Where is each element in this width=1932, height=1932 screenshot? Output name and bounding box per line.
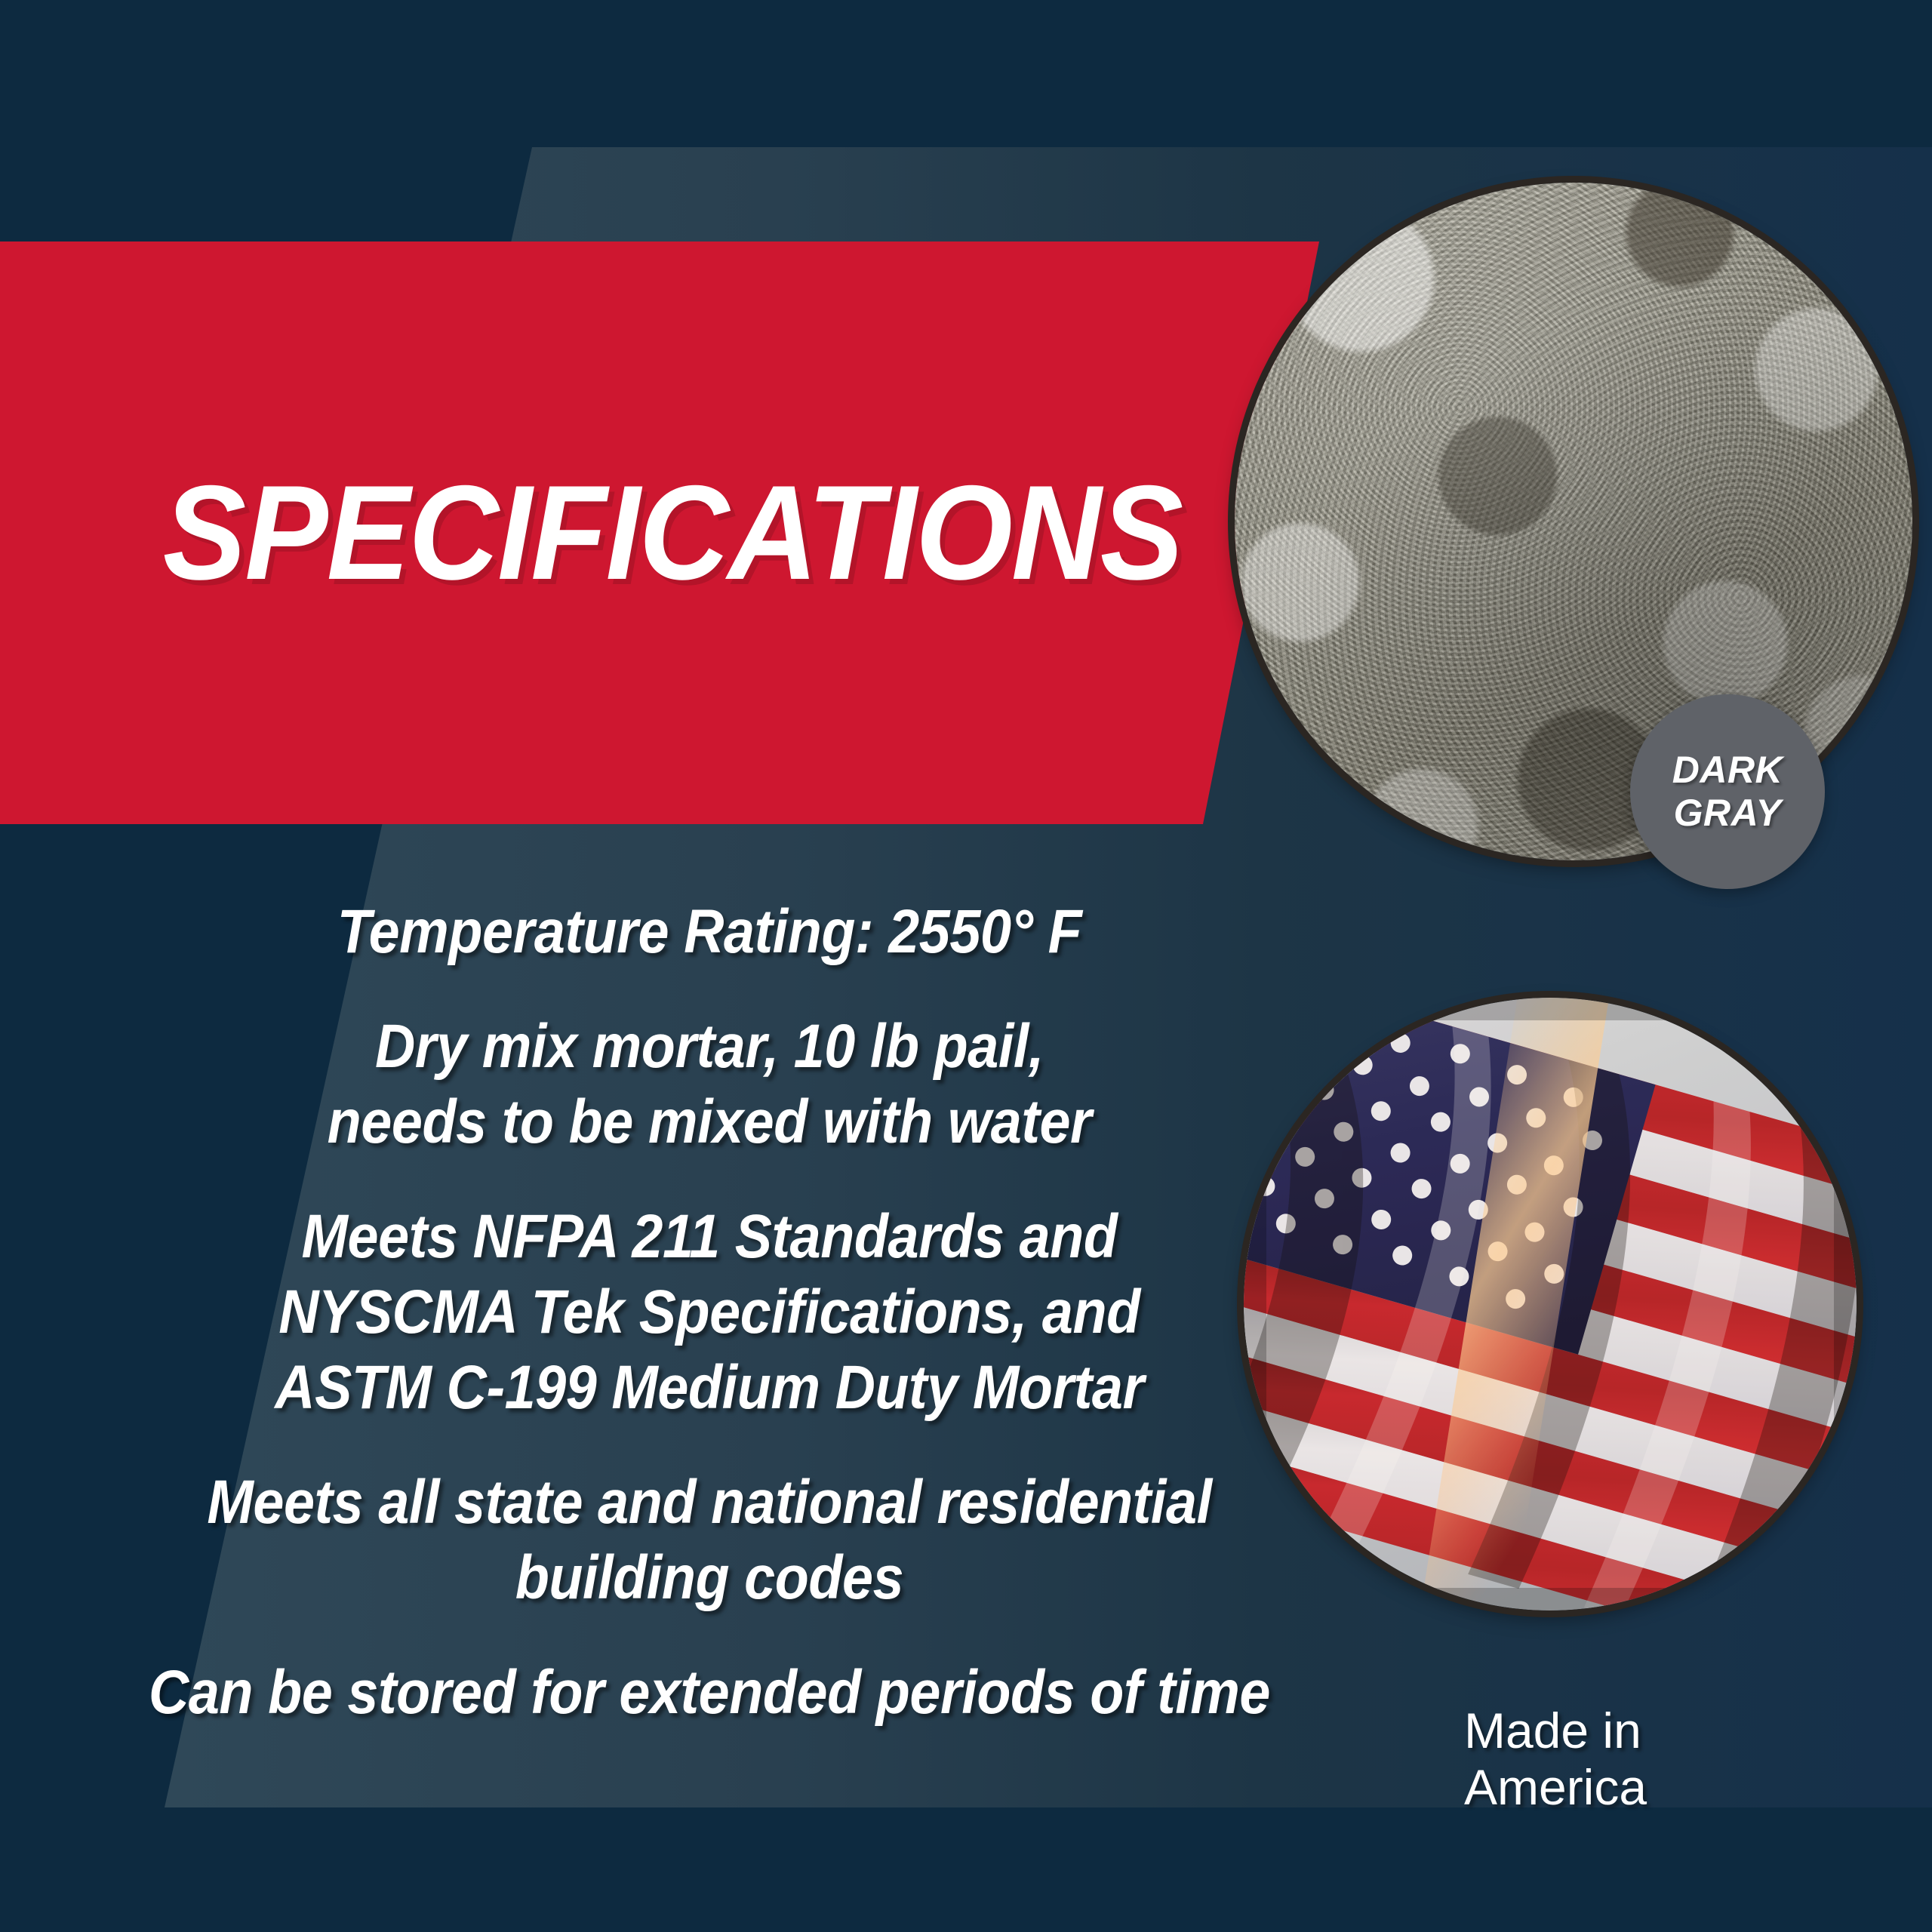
- spec-line: Dry mix mortar, 10 lb pail,: [112, 1009, 1307, 1084]
- made-in-america-caption: Made in America: [1464, 1703, 1857, 1816]
- spec-item-dry-mix-mortar: Dry mix mortar, 10 lb pail, needs to be …: [112, 1009, 1307, 1160]
- color-badge-line-1: DARK: [1672, 749, 1783, 792]
- color-badge-line-2: GRAY: [1674, 792, 1782, 835]
- spec-line: needs to be mixed with water: [112, 1084, 1307, 1160]
- spec-line: Meets all state and national residential: [112, 1465, 1307, 1540]
- spec-item-standards: Meets NFPA 211 Standards and NYSCMA Tek …: [112, 1199, 1307, 1426]
- specification-list: Temperature Rating: 2550° F Dry mix mort…: [45, 894, 1374, 1730]
- spec-line: Can be stored for extended periods of ti…: [112, 1655, 1307, 1730]
- page-title: SPECIFICATIONS: [0, 241, 1193, 824]
- spec-line: Temperature Rating: 2550° F: [112, 894, 1307, 970]
- spec-item-temperature-rating: Temperature Rating: 2550° F: [112, 894, 1307, 970]
- spec-line: Meets NFPA 211 Standards and: [112, 1199, 1307, 1275]
- specifications-infographic: SPECIFICATIONS DARK GRAY: [0, 0, 1932, 1932]
- spec-item-storage: Can be stored for extended periods of ti…: [112, 1655, 1307, 1730]
- spec-line: ASTM C-199 Medium Duty Mortar: [112, 1350, 1307, 1426]
- spec-line: NYSCMA Tek Specifications, and: [112, 1275, 1307, 1350]
- made-in-america-line-1: Made in: [1464, 1703, 1857, 1759]
- spec-item-building-codes: Meets all state and national residential…: [112, 1465, 1307, 1616]
- color-swatch-badge: DARK GRAY: [1630, 694, 1825, 889]
- spec-line: building codes: [112, 1540, 1307, 1616]
- made-in-america-line-2: America: [1464, 1759, 1857, 1816]
